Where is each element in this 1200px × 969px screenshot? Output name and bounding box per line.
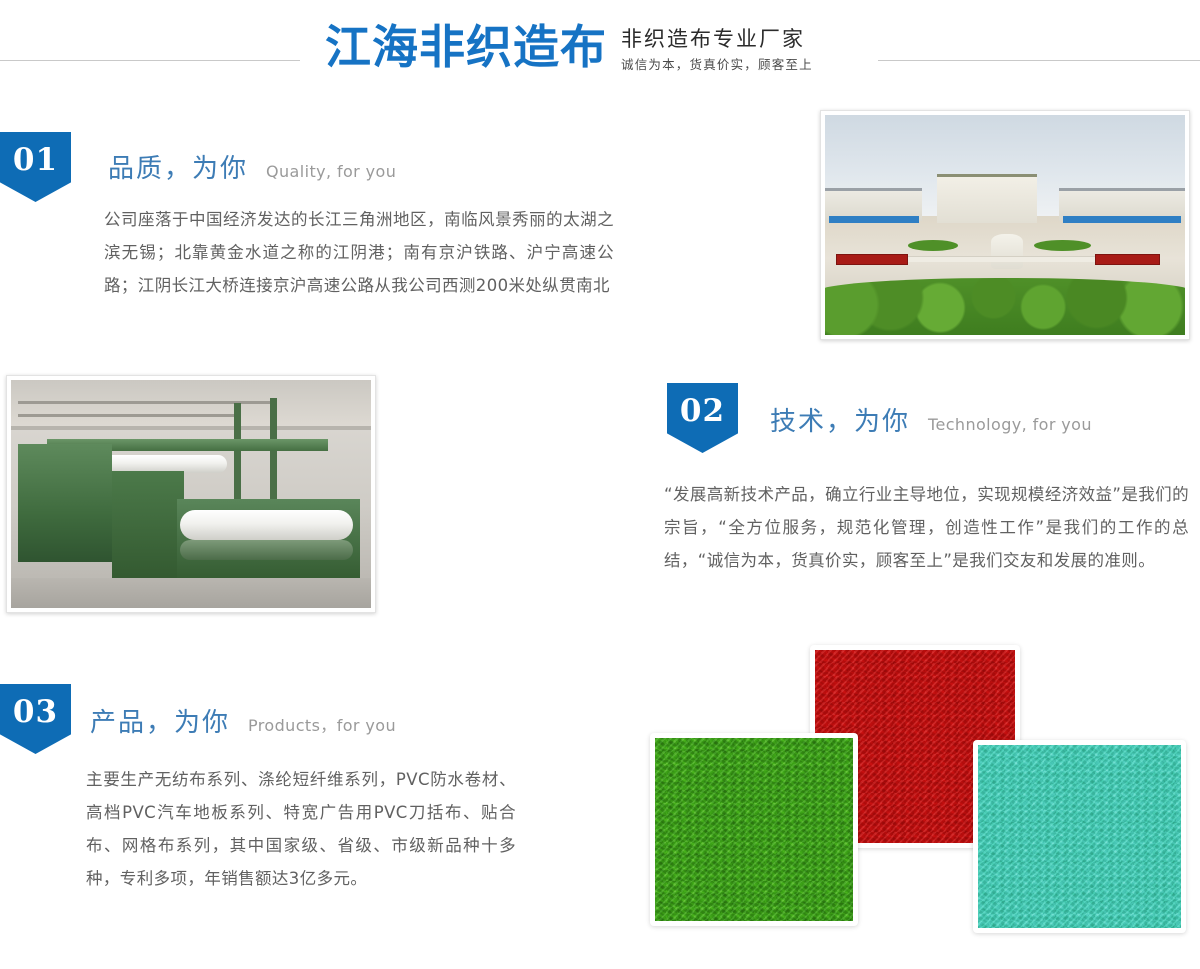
photo-perimeter-wall <box>897 256 1095 263</box>
photo-red-sign-right <box>1095 254 1160 265</box>
photo-steel-frame-1 <box>234 403 241 506</box>
photo-fabric-roll-main <box>180 510 353 540</box>
photo-machine-drum <box>180 540 353 561</box>
section-title-cn-03: 产品，为你 <box>90 702 230 739</box>
section-title-en-03: Products，for you <box>248 712 396 736</box>
photo-gatehouse <box>991 234 1023 269</box>
factory-aerial-photo <box>820 110 1190 340</box>
photo-factory-ceiling <box>11 380 371 430</box>
section-title-en-02: Technology, for you <box>928 415 1092 434</box>
photo-roof-beam-2 <box>18 414 241 417</box>
section-heading-03: 产品，为你 Products，for you <box>90 702 396 739</box>
machine-photo-canvas <box>11 380 371 608</box>
teal-swatch-surface <box>978 745 1181 928</box>
section-title-cn-01: 品质，为你 <box>108 148 248 185</box>
brand-title: 江海非织造布 <box>325 18 607 76</box>
photo-awning-right <box>1063 216 1182 223</box>
section-badge-03: 03 <box>0 684 71 754</box>
photo-concrete-floor <box>11 578 371 608</box>
section-heading-01: 品质，为你 Quality, for you <box>108 148 396 185</box>
green-swatch-surface <box>655 738 853 921</box>
photo-roof-beam-1 <box>18 401 270 404</box>
section-badge-02: 02 <box>667 383 738 453</box>
header-divider-left <box>0 60 300 61</box>
page-root: 江海非织造布 非织造布专业厂家 诚信为本，货真价实，顾客至上 01 品质，为你 … <box>0 0 1200 969</box>
photo-hedge-row <box>825 278 1185 335</box>
brand-subtitle: 非织造布专业厂家 <box>621 24 805 54</box>
photo-building-main <box>937 174 1038 222</box>
green-leather-swatch <box>650 733 858 926</box>
brand-tagline-group: 非织造布专业厂家 诚信为本，货真价实，顾客至上 <box>621 18 813 76</box>
section-body-02: “发展高新技术产品，确立行业主导地位，实现规模经济效益”是我们的宗旨，“全方位服… <box>664 478 1189 577</box>
page-header: 江海非织造布 非织造布专业厂家 诚信为本，货真价实，顾客至上 <box>0 0 1200 100</box>
section-title-cn-02: 技术，为你 <box>770 401 910 438</box>
section-heading-02: 技术，为你 Technology, for you <box>770 401 1092 438</box>
section-body-01: 公司座落于中国经济发达的长江三角洲地区，南临风景秀丽的太湖之滨无锡；北靠黄金水道… <box>104 203 614 302</box>
section-title-en-01: Quality, for you <box>266 162 396 181</box>
section-badge-01: 01 <box>0 132 71 202</box>
factory-photo-canvas <box>825 115 1185 335</box>
teal-leather-swatch <box>973 740 1186 933</box>
photo-machine-body-left <box>18 444 112 563</box>
header-divider-right <box>878 60 1200 61</box>
photo-machine-body-mid <box>112 471 184 585</box>
brand-slogan: 诚信为本，货真价实，顾客至上 <box>621 54 813 76</box>
section-body-03: 主要生产无纺布系列、涤纶短纤维系列，PVC防水卷材、高档PVC汽车地板系列、特宽… <box>86 763 516 895</box>
photo-awning-left <box>829 216 919 223</box>
nonwoven-machine-photo <box>6 375 376 613</box>
brand-block: 江海非织造布 非织造布专业厂家 诚信为本，货真价实，顾客至上 <box>325 18 813 76</box>
photo-red-sign-left <box>836 254 908 265</box>
